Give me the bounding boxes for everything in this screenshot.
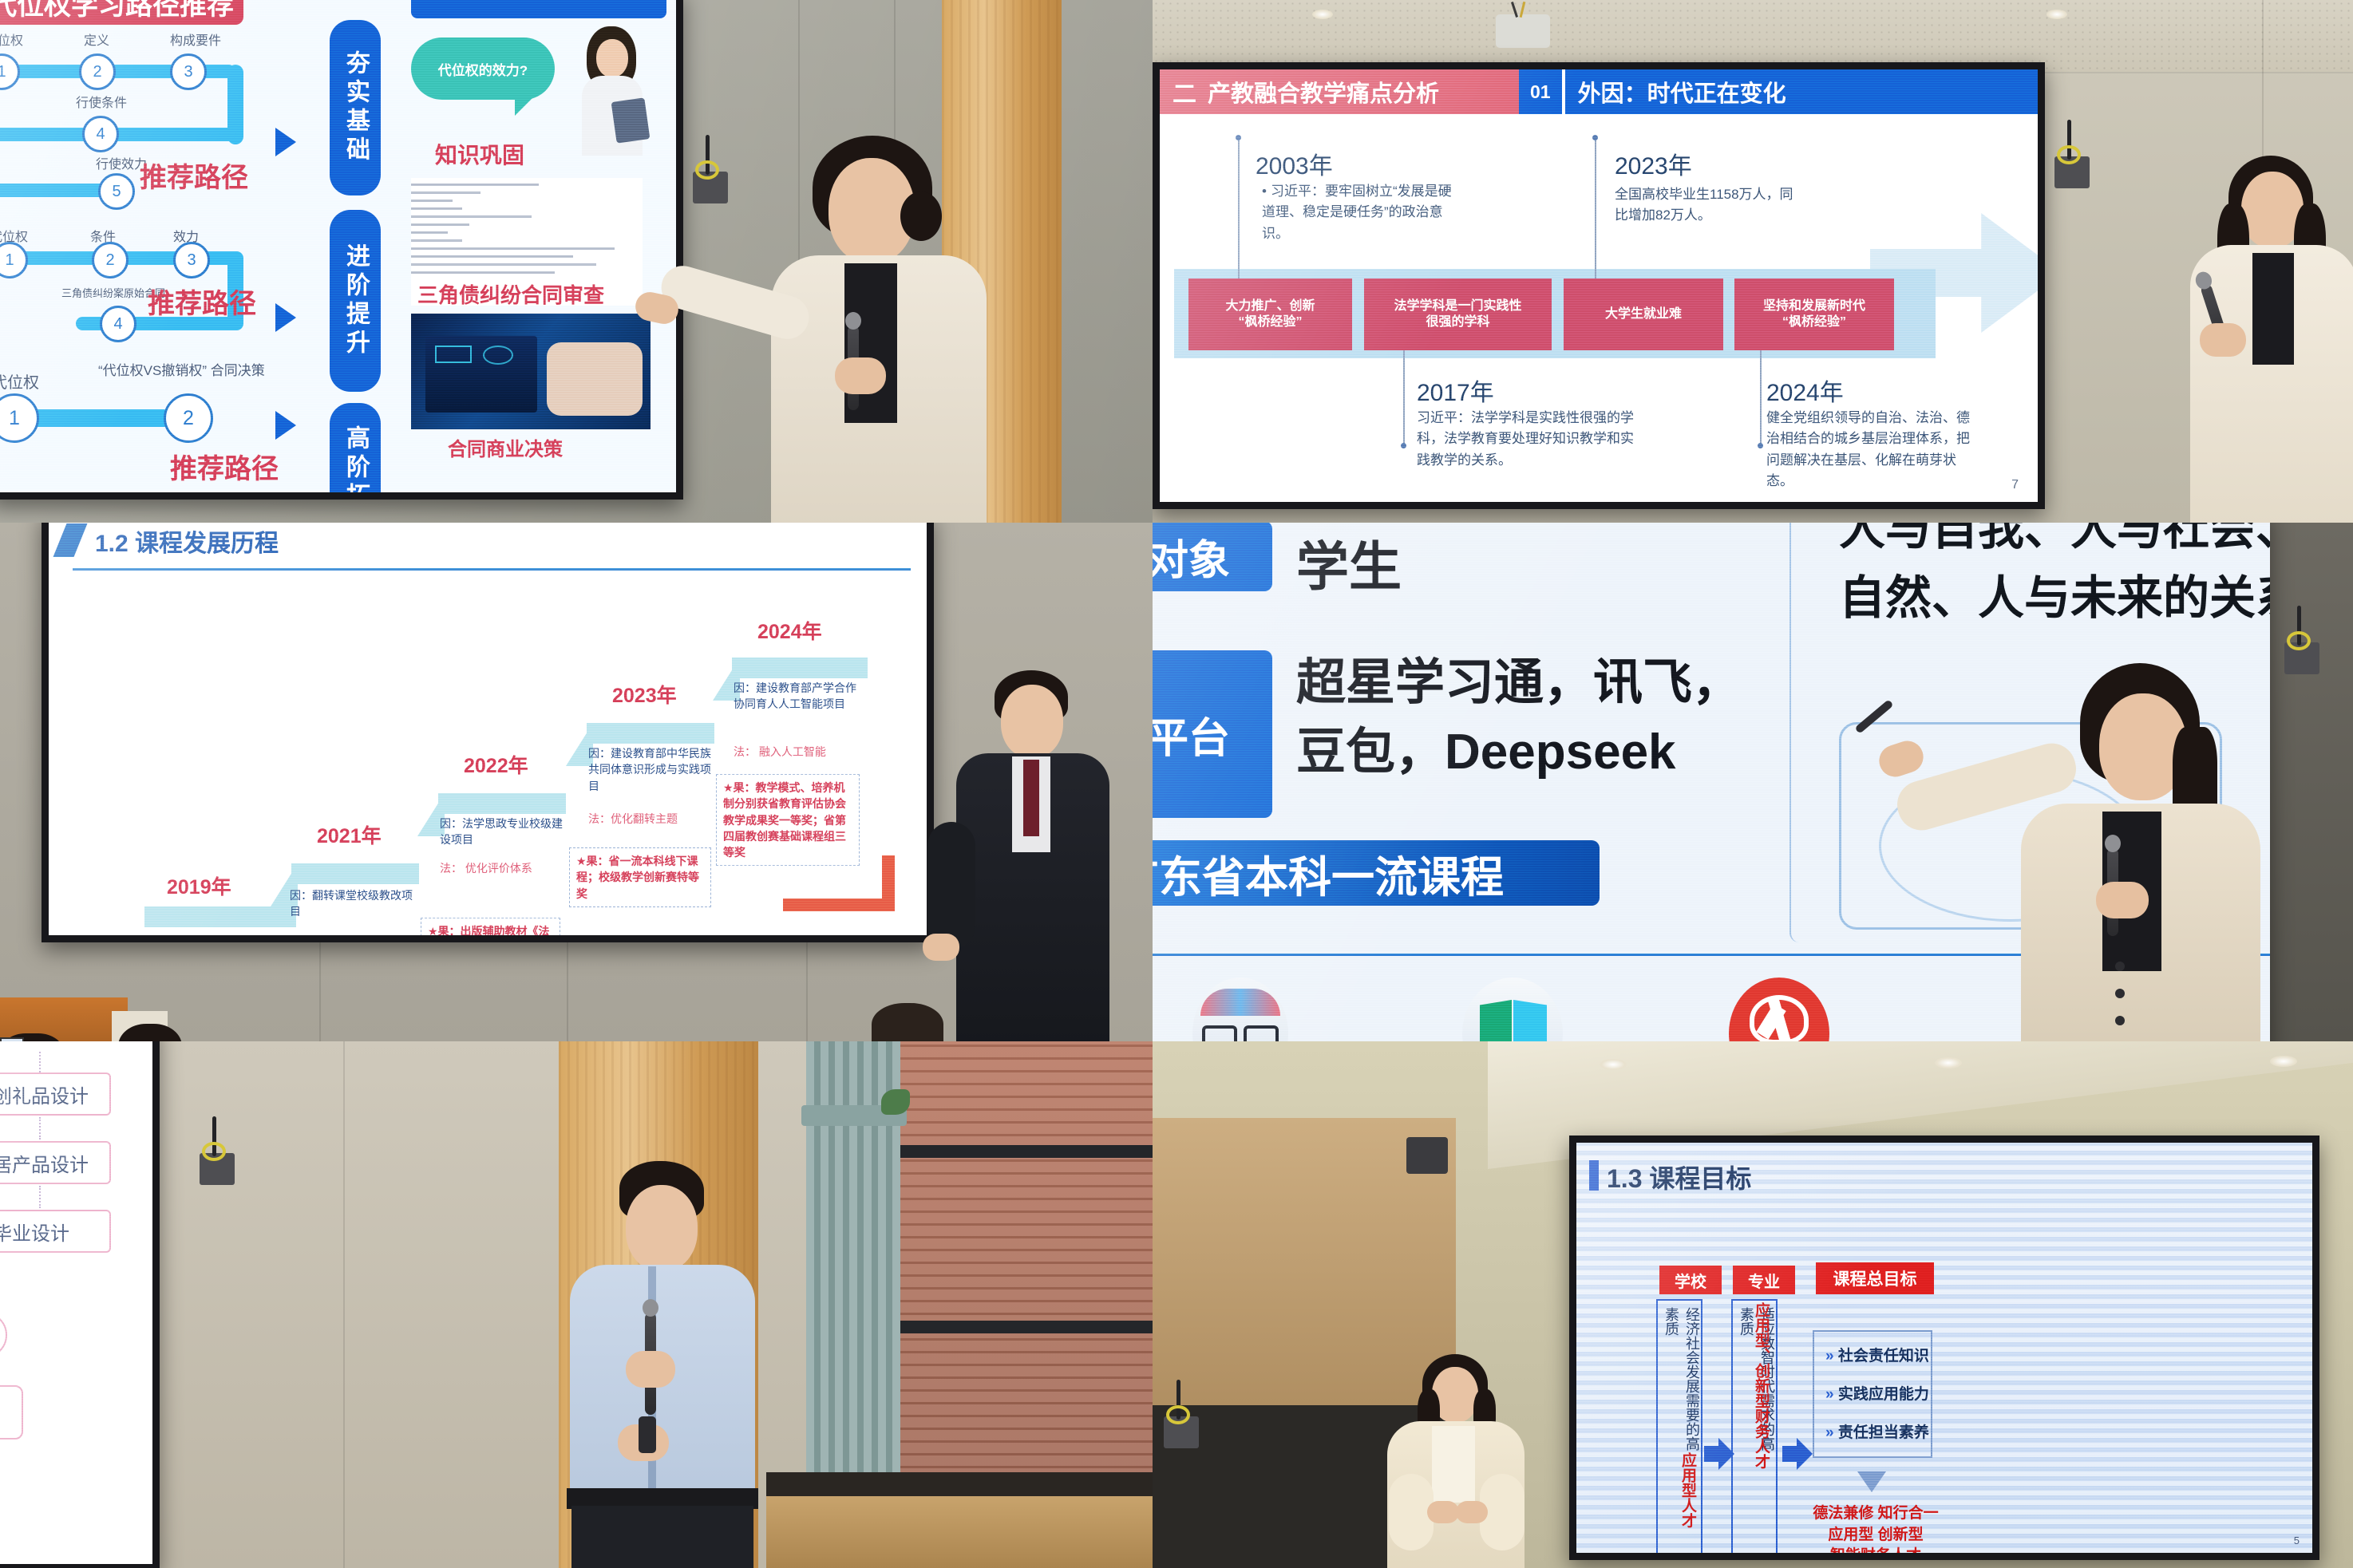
display-screen: 1.3 课程目标 学校 专业 课程总目标 经济社会发展需要的高素质 应用型人才 … [1576,1143,2312,1553]
ceiling-light [2047,10,2067,19]
presentation-display: 二 产教融合教学痛点分析 01 外因：时代正在变化 [1153,62,2045,509]
ceiling-sensor [1496,14,1550,48]
page-number: 5 [2294,1534,2300,1546]
milestone-cause: 因：建设教育部中华民族共同体意识形成与实践项目 [588,745,716,794]
recommend-label: 推荐路径 [148,282,256,321]
presenter-man [950,670,1141,1041]
laptop-photo [411,314,651,429]
panel-top-right-pain-point-analysis: 二 产教融合教学痛点分析 01 外因：时代正在变化 [1153,0,2353,523]
recommend-label: 推荐路径 [140,156,248,195]
audience-head [872,1003,943,1041]
step-label: 代位权 [0,30,23,49]
slide-course-goals: 1.3 课程目标 学校 专业 课程总目标 经济社会发展需要的高素质 应用型人才 … [1576,1143,2312,1553]
design-box: 毕业设计 [0,1210,111,1253]
milestone-cause: 因：应教育部开课及人培方案要求 [143,934,271,935]
ceiling-light [1312,10,1333,19]
presenter-woman-2 [2182,156,2353,523]
slide-course-history: 1.2 课程发展历程 2019年 因：应教育部开课及人培方案要求 法： 融入法律… [49,523,927,935]
milestone-method: 法：优化翻转主题 [588,811,716,827]
milestone-method: 法： 重构教学内容 实施翻转课堂 [290,934,417,935]
milestone-cause: 因：法学思政专业校级建设项目 [440,816,569,848]
milestone-cause: 因：建设教育部产学合作协同育人人工智能项目 [734,680,865,713]
presentation-display: 1.2 课程发展历程 2019年 因：应教育部开课及人培方案要求 法： 融入法律… [42,523,934,942]
display-screen: 文创礼品设计 家居产品设计 毕业设计 传承创新 设计人才。 价值引领 商业设计策… [0,1041,152,1564]
clicker [639,1416,656,1453]
presenter-woman [694,144,1030,523]
step-node: 2 [164,393,213,443]
panel-mid-right-platform-tools: 对象 学生 平台 超星学习通，讯飞，豆包，Deepseek 广东省本科一流课程 … [1153,523,2353,1041]
speech-bubble: 代位权的效力? [411,38,555,100]
entry-body: 全国高校毕业生1158万人，同比增加82万人。 [1615,184,1806,227]
ceiling-light [2270,1056,2297,1067]
step-node: 5 [98,173,135,210]
arrow-down-icon [1857,1471,1886,1492]
presenter-man-2 [559,1161,830,1568]
milestone-method: 法： 优化评价体系 [440,860,569,876]
presentation-display: 1.3 课程目标 学校 专业 课程总目标 经济社会发展需要的高素质 应用型人才 … [1569,1136,2319,1560]
chip: 大学生就业难 [1564,278,1723,350]
arrow-right-icon [275,411,296,440]
milestone-method: 法： 融入人工智能 [734,744,865,760]
step-node: 4 [82,116,119,152]
chapter-number: 二 [1173,74,1196,109]
entry-body: 健全党组织领导的自治、法治、德治相结合的城乡基层治理体系，把问题解决在基层、化解… [1766,408,1970,492]
right-text: 人与自我、人与社会、人与自然、人与未来的关系 [1839,523,2270,633]
avatar-illustration [564,26,660,154]
milestone-fruit: ★果：出版辅助教材《法学教育中德育渗透研究》；校课程思政示范课程，课程思政优秀教… [421,918,560,935]
panel-bottom-right-course-goals: 1.3 课程目标 学校 专业 课程总目标 经济社会发展需要的高素质 应用型人才 … [1153,1041,2353,1568]
page-number: 7 [2011,478,2019,492]
step-label: 代位权 [0,369,39,393]
panel-top-left-subrogation-path: 代位权学习路径推荐 代位权内容推荐 代位权 定义 构成要件 1 2 3 行使条件… [0,0,1153,523]
plant-icon [881,1089,910,1115]
entry-body: 习近平：法学学科是实践性很强的学科，法学教育要处理好知识教学和实践教学的关系。 [1417,408,1639,471]
caption: 三角债纠纷合同审查 [417,279,604,309]
pen-holder [1164,1416,1199,1448]
slide-design-course: 文创礼品设计 家居产品设计 毕业设计 传承创新 设计人才。 价值引领 商业设计策… [0,1041,152,1564]
slide-pain-points: 二 产教融合教学痛点分析 01 外因：时代正在变化 [1160,69,2038,502]
display-screen: 1.2 课程发展历程 2019年 因：应教育部开课及人培方案要求 法： 融入法律… [49,523,927,935]
stage-label: 高阶拓展 [330,403,381,492]
step-label: “代位权VS撤销权” 合同决策 [98,359,265,379]
presentation-display: 代位权学习路径推荐 代位权内容推荐 代位权 定义 构成要件 1 2 3 行使条件… [0,0,683,500]
slide-c-heading: 1.2 课程发展历程 [95,523,279,559]
step-node: 4 [100,306,136,342]
projector-mount [1406,1137,1448,1174]
course-band: 广东省本科一流课程 [1153,840,1600,906]
goal-item: » 责任担当素养 [1825,1420,1929,1442]
column-tag: 学校 [1659,1266,1722,1294]
step-node: 1 [0,393,39,443]
inherit-pill: 传承创新 [0,1312,7,1358]
presenter-woman-3 [1919,666,2286,1041]
slide-a-title: 代位权学习路径推荐 [0,0,243,25]
chapter-title: 产教融合教学痛点分析 [1208,75,1439,109]
step-node: 1 [0,242,28,278]
hand [626,1351,675,1388]
milestone-year: 2022年 [464,750,528,779]
blouse [1432,1426,1475,1503]
step-node: 2 [92,242,129,278]
recommend-label: 推荐路径 [170,447,279,486]
arrow-right-icon [275,303,296,332]
year-label: 2003年 [1256,146,1333,181]
glasses-icon [1192,978,1288,1041]
goal-item: » 实践应用能力 [1825,1382,1929,1404]
display-screen: 二 产教融合教学痛点分析 01 外因：时代正在变化 [1160,69,2038,502]
slide-b-header: 二 产教融合教学痛点分析 01 外因：时代正在变化 [1160,69,2038,114]
chip: 坚持和发展新时代 “枫桥经验” [1734,278,1894,350]
milestone-year: 2019年 [167,871,231,900]
pen-holder [2054,156,2090,188]
stage-label: 夯实基础 [330,20,381,196]
chip: 大力推广、创新 “枫桥经验” [1188,278,1352,350]
section-number: 01 [1519,69,1562,114]
design-box: 文创礼品设计 [0,1072,111,1116]
section-title: 外因：时代正在变化 [1562,69,2038,114]
step-node: 2 [79,53,116,90]
summary-text: 德法兼修 知行合一 应用型 创新型 智能财务人才 [1800,1503,1952,1553]
presenter-woman-4 [1362,1354,1553,1568]
slide-subrogation: 代位权学习路径推荐 代位权内容推荐 代位权 定义 构成要件 1 2 3 行使条件… [0,0,676,492]
ceiling-light [1935,1057,1962,1068]
row-tag: 平台 [1153,650,1272,818]
panel-mid-left-course-history: 1.2 课程发展历程 2019年 因：应教育部开课及人培方案要求 法： 融入法律… [0,523,1153,1041]
result-box: 设计人才。 [0,1385,23,1440]
row-value: 学生 [1296,524,1402,601]
goal-item: » 社会责任知识 [1825,1344,1929,1365]
step-node: 3 [173,242,210,278]
goal-tag: 课程总目标 [1816,1262,1934,1294]
slide-f-heading: 1.3 课程目标 [1607,1159,1751,1195]
stage-label: 进阶提升 [330,210,381,392]
hand [2096,882,2149,918]
milestone-fruit: ★果：教学模式、培养机制分别获省教育评估协会教学成果奖一等奖；省第四届教创赛基础… [716,774,860,866]
chapter-heading: 二 产教融合教学痛点分析 [1160,69,1519,114]
hand [2200,323,2246,357]
milestone-year: 2021年 [317,820,382,849]
caption: 知识巩固 [435,138,524,170]
column-highlight: 应用型人才 [1677,1452,1699,1548]
milestone-year: 2024年 [757,616,822,645]
year-label: 2023年 [1615,146,1692,181]
step-node: 1 [0,53,20,90]
step-label: 构成要件 [170,30,221,49]
pen-holder [200,1153,235,1185]
milestone-cause: 因：翻转课堂校级教改项目 [290,887,417,920]
slide-a-title-2: 代位权内容推荐 [411,0,666,18]
pen-holder [2284,642,2319,674]
row-value: 超星学习通，讯飞，豆包，Deepseek [1296,649,1783,788]
check-mark-icon: 秒批作文 [1729,978,1829,1041]
year-label: 2024年 [1766,373,1844,408]
column-highlight: 应用型、创新型财务人才 [1750,1302,1772,1486]
trousers [571,1506,753,1568]
caption: 合同商业决策 [448,433,563,461]
open-book-icon [1462,978,1563,1041]
heading-accent [53,523,88,557]
step-node: 3 [170,53,207,90]
milestone-fruit: ★果：省一流本科线下课程；校级教学创新赛特等奖 [569,847,711,907]
photo-collage: 代位权学习路径推荐 代位权内容推荐 代位权 定义 构成要件 1 2 3 行使条件… [0,0,2353,1568]
year-label: 2017年 [1417,373,1494,408]
row-tag: 对象 [1153,523,1272,591]
hand [1427,1501,1459,1523]
step-label: 定义 [84,30,109,49]
hand [923,934,959,961]
design-box: 家居产品设计 [0,1141,111,1184]
heading-accent [1589,1160,1599,1191]
entry-body: •习近平：要牢固树立“发展是硬道理、稳定是硬任务”的政治意识。 [1262,181,1461,244]
step-label: 行使条件 [76,92,127,111]
column-text: 经济社会发展需要的高素质 [1661,1307,1702,1451]
ceiling-light [1600,1059,1627,1070]
hand [1456,1501,1488,1523]
presentation-display: 文创礼品设计 家居产品设计 毕业设计 传承创新 设计人才。 价值引领 商业设计策… [0,1041,160,1568]
display-screen: 代位权学习路径推荐 代位权内容推荐 代位权 定义 构成要件 1 2 3 行使条件… [0,0,676,492]
panel-bottom-left-design-course: 文创礼品设计 家居产品设计 毕业设计 传承创新 设计人才。 价值引领 商业设计策… [0,1041,1153,1568]
arrow-right-icon [275,128,296,156]
necktie [1023,760,1039,836]
milestone-year: 2023年 [612,680,677,709]
column-tag: 专业 [1733,1266,1795,1294]
hand [835,357,886,394]
chip: 法学学科是一门实践性 很强的学科 [1364,278,1552,350]
